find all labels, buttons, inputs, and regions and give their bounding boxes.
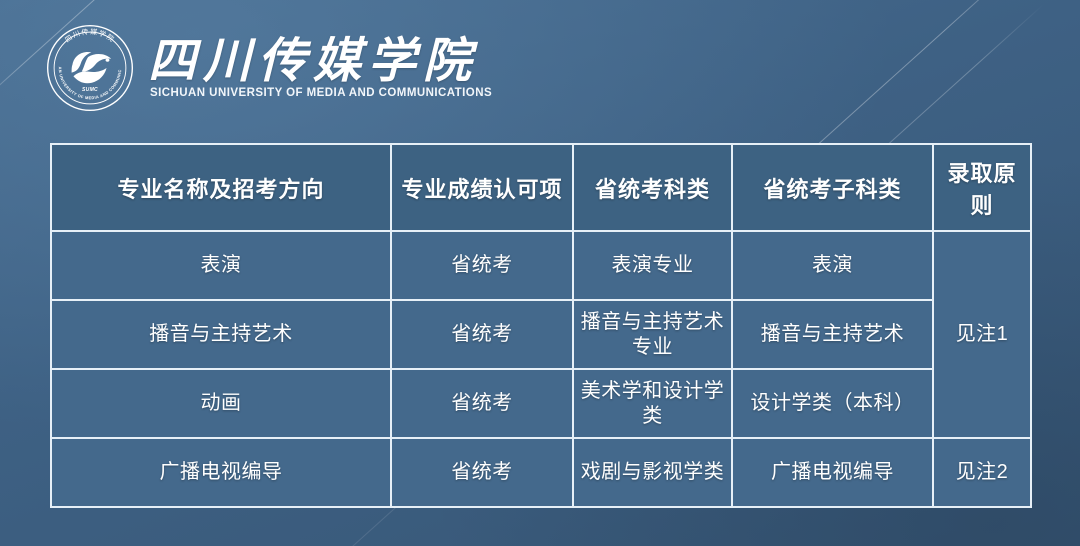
column-header-provincial-subcategory: 省统考子科类 — [732, 144, 933, 231]
cell-provincial-category: 表演专业 — [573, 231, 732, 300]
university-name-en: SICHUAN UNIVERSITY OF MEDIA AND COMMUNIC… — [148, 87, 492, 99]
admissions-table-container: 专业名称及招考方向 专业成绩认可项 省统考科类 省统考子科类 录取原则 表演 省… — [50, 143, 1030, 508]
cell-major: 动画 — [51, 369, 391, 438]
cell-admission-rule: 见注1 — [933, 231, 1031, 438]
slide-canvas: 四川传媒学院 SICHUAN UNIVERSITY OF MEDIA AND C… — [0, 0, 1080, 546]
cell-provincial-subcategory: 表演 — [732, 231, 933, 300]
cell-provincial-category: 美术学和设计学类 — [573, 369, 732, 438]
table-row: 动画 省统考 美术学和设计学类 设计学类（本科） — [51, 369, 1031, 438]
cell-score-item: 省统考 — [391, 369, 573, 438]
cell-admission-rule: 见注2 — [933, 438, 1031, 507]
cell-provincial-subcategory: 设计学类（本科） — [732, 369, 933, 438]
table-row: 播音与主持艺术 省统考 播音与主持艺术专业 播音与主持艺术 — [51, 300, 1031, 369]
cell-provincial-subcategory: 广播电视编导 — [732, 438, 933, 507]
column-header-major: 专业名称及招考方向 — [51, 144, 391, 231]
cell-major: 表演 — [51, 231, 391, 300]
university-name-cn: 四川传媒学院 — [148, 37, 492, 86]
cell-major: 广播电视编导 — [51, 438, 391, 507]
cell-provincial-category: 戏剧与影视学类 — [573, 438, 732, 507]
table-row: 广播电视编导 省统考 戏剧与影视学类 广播电视编导 见注2 — [51, 438, 1031, 507]
column-header-provincial-category: 省统考科类 — [573, 144, 732, 231]
university-seal-logo-icon: 四川传媒学院 SICHUAN UNIVERSITY OF MEDIA AND C… — [44, 22, 136, 114]
cell-provincial-subcategory: 播音与主持艺术 — [732, 300, 933, 369]
cell-score-item: 省统考 — [391, 438, 573, 507]
admissions-table: 专业名称及招考方向 专业成绩认可项 省统考科类 省统考子科类 录取原则 表演 省… — [50, 143, 1032, 508]
cell-provincial-category: 播音与主持艺术专业 — [573, 300, 732, 369]
cell-score-item: 省统考 — [391, 231, 573, 300]
cell-major: 播音与主持艺术 — [51, 300, 391, 369]
column-header-admission-rule: 录取原则 — [933, 144, 1031, 231]
table-header-row: 专业名称及招考方向 专业成绩认可项 省统考科类 省统考子科类 录取原则 — [51, 144, 1031, 231]
university-brand-lockup: 四川传媒学院 SICHUAN UNIVERSITY OF MEDIA AND C… — [44, 22, 492, 114]
wordmark: 四川传媒学院 SICHUAN UNIVERSITY OF MEDIA AND C… — [148, 37, 492, 99]
table-row: 表演 省统考 表演专业 表演 见注1 — [51, 231, 1031, 300]
cell-score-item: 省统考 — [391, 300, 573, 369]
column-header-score-item: 专业成绩认可项 — [391, 144, 573, 231]
svg-text:SUMC: SUMC — [82, 87, 98, 93]
